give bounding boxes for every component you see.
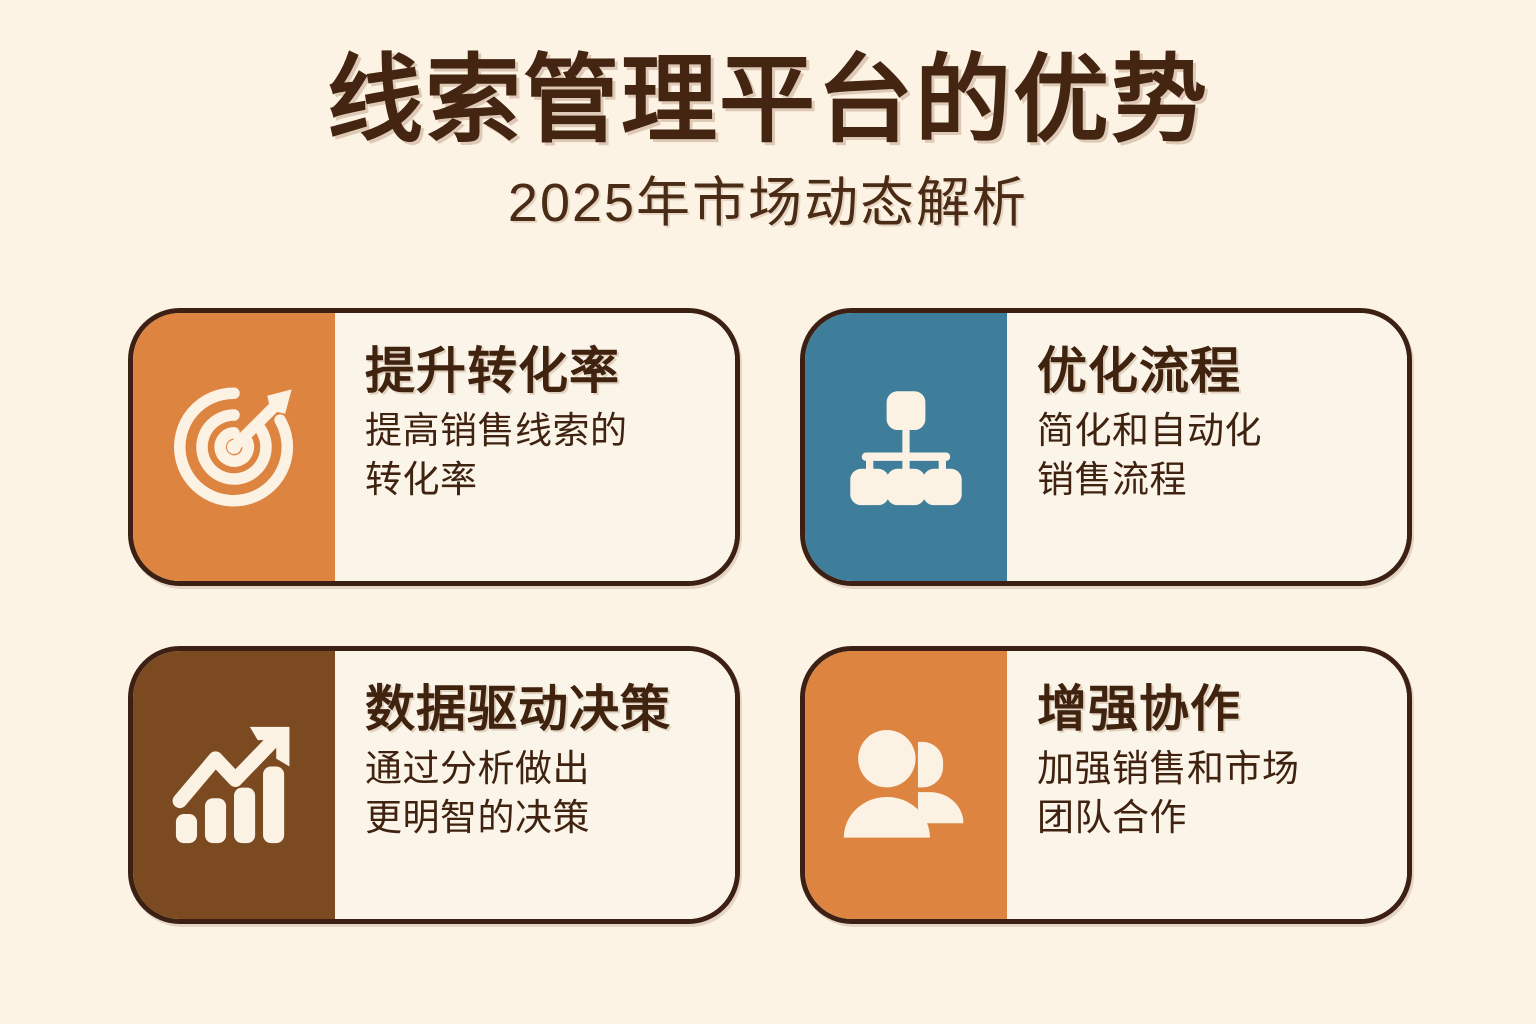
target-icon — [170, 383, 298, 511]
hierarchy-icon — [843, 386, 969, 508]
card-icon-panel — [133, 313, 335, 581]
card-icon-panel — [805, 651, 1007, 919]
card-description: 提高销售线索的 转化率 — [365, 407, 709, 505]
card-body: 提升转化率 提高销售线索的 转化率 — [335, 313, 735, 581]
benefit-card[interactable]: 增强协作 加强销售和市场 团队合作 — [800, 646, 1412, 924]
users-icon — [839, 727, 973, 843]
card-description-line: 通过分析做出 — [365, 745, 709, 794]
card-description-line: 团队合作 — [1037, 794, 1381, 843]
benefit-card[interactable]: 提升转化率 提高销售线索的 转化率 — [128, 308, 740, 586]
benefit-card[interactable]: 数据驱动决策 通过分析做出 更明智的决策 — [128, 646, 740, 924]
card-title: 提升转化率 — [365, 343, 709, 399]
card-title: 增强协作 — [1037, 681, 1381, 737]
card-body: 数据驱动决策 通过分析做出 更明智的决策 — [335, 651, 735, 919]
card-description-line: 转化率 — [365, 456, 709, 505]
card-description: 通过分析做出 更明智的决策 — [365, 745, 709, 843]
growth-chart-icon — [168, 719, 300, 851]
card-body: 优化流程 简化和自动化 销售流程 — [1007, 313, 1407, 581]
card-description-line: 更明智的决策 — [365, 794, 709, 843]
card-description: 简化和自动化 销售流程 — [1037, 407, 1381, 505]
poster-header: 线索管理平台的优势 2025年市场动态解析 — [0, 0, 1536, 236]
infographic-poster: 线索管理平台的优势 2025年市场动态解析 提升转化率 — [0, 0, 1536, 1024]
card-description-line: 提高销售线索的 — [365, 407, 709, 456]
page-title: 线索管理平台的优势 — [0, 44, 1536, 157]
card-description: 加强销售和市场 团队合作 — [1037, 745, 1381, 843]
card-description-line: 简化和自动化 — [1037, 407, 1381, 456]
card-icon-panel — [805, 313, 1007, 581]
card-title: 数据驱动决策 — [365, 681, 709, 737]
benefit-card-grid: 提升转化率 提高销售线索的 转化率 — [128, 308, 1412, 924]
card-title: 优化流程 — [1037, 343, 1381, 399]
card-icon-panel — [133, 651, 335, 919]
card-description-line: 销售流程 — [1037, 456, 1381, 505]
card-description-line: 加强销售和市场 — [1037, 745, 1381, 794]
page-subtitle: 2025年市场动态解析 — [0, 171, 1536, 236]
benefit-card[interactable]: 优化流程 简化和自动化 销售流程 — [800, 308, 1412, 586]
card-body: 增强协作 加强销售和市场 团队合作 — [1007, 651, 1407, 919]
